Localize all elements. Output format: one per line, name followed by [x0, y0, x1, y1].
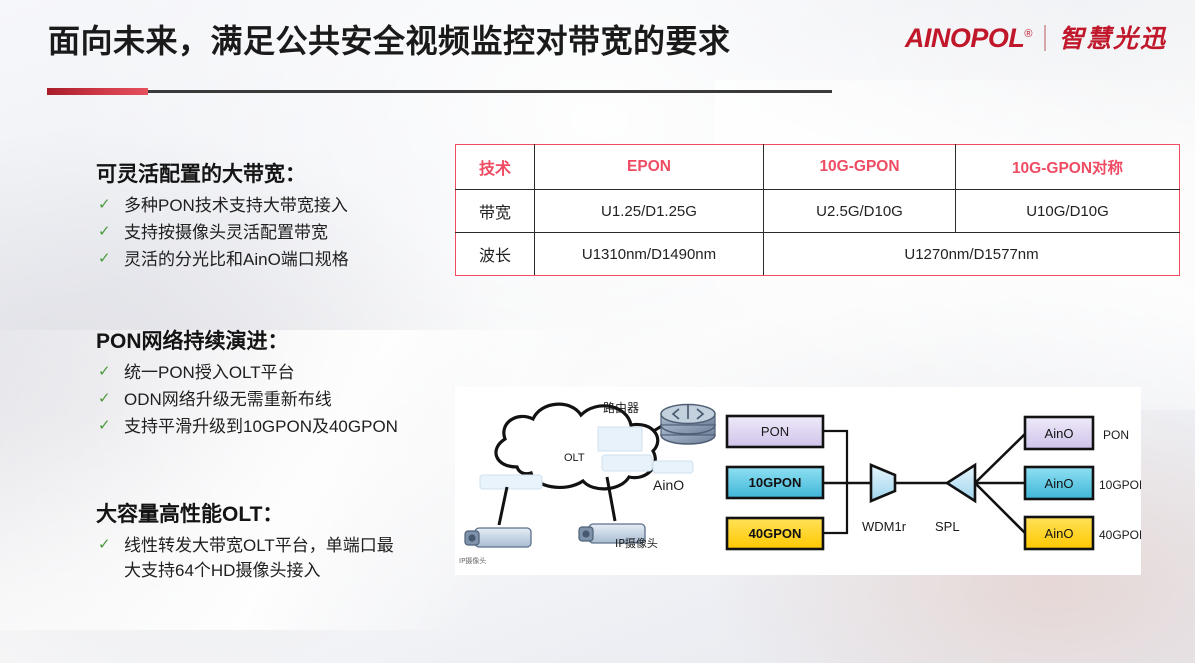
diagram-onu-stack: AinO PON AinO 10GPON AinO 40GPON — [1025, 417, 1141, 549]
bullet-list: ✓ 线性转发大带宽OLT平台，单端口最 大支持64个HD摄像头接入 — [96, 533, 394, 583]
wire-40gpon-to-wdm — [823, 483, 847, 533]
table-cell: U1.25/D1.25G — [535, 190, 764, 233]
table-cell: U2.5G/D10G — [764, 190, 956, 233]
list-item-label: ODN网络升级无需重新布线 — [124, 387, 332, 412]
wire-pon-to-wdm — [823, 431, 847, 483]
page-title: 面向未来，满足公共安全视频监控对带宽的要求 — [48, 16, 731, 62]
onu-tech-10gpon-label: 10GPON — [1099, 478, 1141, 492]
inline-device-left — [480, 475, 542, 489]
onu-tech-40gpon-label: 40GPON — [1099, 528, 1141, 542]
splitter-icon — [947, 465, 975, 501]
link-camera-left — [499, 487, 507, 525]
diagram-footnote: IP摄像头 — [459, 556, 486, 565]
bullet-list: ✓ 多种PON技术支持大带宽接入 ✓ 支持按摄像头灵活配置带宽 ✓ 灵活的分光比… — [96, 193, 349, 272]
tech-box-40gpon-label: 40GPON — [749, 526, 802, 541]
title-underline — [47, 88, 832, 95]
onu-tech-pon-label: PON — [1103, 428, 1129, 442]
list-item-label: 支持按摄像头灵活配置带宽 — [124, 220, 328, 245]
wdm-label: WDM1r — [862, 519, 907, 534]
pon-architecture-diagram: OLT 路由器 — [455, 387, 1141, 575]
aino-left-label: AinO — [653, 477, 684, 493]
drop-fiber-pon — [975, 434, 1025, 483]
table-row-wavelength: 波长 U1310nm/D1490nm U1270nm/D1577nm — [456, 233, 1180, 276]
list-item: ✓ 统一PON授入OLT平台 — [96, 360, 398, 385]
diagram-tech-stack: PON 10GPON 40GPON WDM1r SPL — [727, 416, 1025, 549]
bullet-list: ✓ 统一PON授入OLT平台 ✓ ODN网络升级无需重新布线 ✓ 支持平滑升级到… — [96, 360, 398, 439]
pon-spec-table: 技术 EPON 10G-GPON 10G-GPON对称 带宽 U1.25/D1.… — [455, 144, 1180, 276]
registered-trademark-icon: ® — [1024, 28, 1032, 40]
router-icon — [661, 405, 715, 445]
list-item: ✓ 支持平滑升级到10GPON及40GPON — [96, 414, 398, 439]
check-icon: ✓ — [96, 220, 124, 243]
logo-chinese-name: 智慧光迅 — [1059, 26, 1167, 51]
section-heading: PON网络持续演进： — [96, 325, 398, 355]
table-row-label: 带宽 — [456, 190, 535, 233]
table-header-cell-10g-gpon: 10G-GPON — [764, 145, 956, 190]
onu-box-pon-label: AinO — [1045, 426, 1074, 441]
wdm-multiplexer-icon — [871, 465, 895, 501]
list-item: ✓ 灵活的分光比和AinO端口规格 — [96, 247, 349, 272]
list-item-label: 支持平滑升级到10GPON及40GPON — [124, 414, 398, 439]
onu-box-40gpon-label: AinO — [1045, 526, 1074, 541]
ip-camera-left-icon — [465, 528, 531, 547]
table-header-cell-tech: 技术 — [456, 145, 535, 190]
section-heading: 可灵活配置的大带宽： — [96, 158, 349, 188]
check-icon: ✓ — [96, 360, 124, 383]
check-icon: ✓ — [96, 193, 124, 216]
section-flexible-bandwidth: 可灵活配置的大带宽： ✓ 多种PON技术支持大带宽接入 ✓ 支持按摄像头灵活配置… — [96, 158, 349, 272]
inline-device-mid — [602, 455, 652, 471]
table-row-label: 波长 — [456, 233, 535, 276]
check-icon: ✓ — [96, 533, 124, 556]
tech-box-10gpon-label: 10GPON — [749, 475, 802, 490]
list-item-label: 灵活的分光比和AinO端口规格 — [124, 247, 349, 272]
check-icon: ✓ — [96, 387, 124, 410]
logo-wordmark: AINOPOL® — [905, 25, 1032, 52]
list-item: ✓ 多种PON技术支持大带宽接入 — [96, 193, 349, 218]
list-item-label: 多种PON技术支持大带宽接入 — [124, 193, 348, 218]
ip-camera-label: IP摄像头 — [615, 536, 658, 550]
logo-wordmark-text: AINOPOL — [905, 23, 1025, 53]
list-item-label: 统一PON授入OLT平台 — [124, 360, 295, 385]
drop-fiber-40gpon — [975, 483, 1025, 533]
list-item: ✓ ODN网络升级无需重新布线 — [96, 387, 398, 412]
slide: 面向未来，满足公共安全视频监控对带宽的要求 AINOPOL® 智慧光迅 可灵活配… — [0, 0, 1195, 663]
section-pon-evolution: PON网络持续演进： ✓ 统一PON授入OLT平台 ✓ ODN网络升级无需重新布… — [96, 325, 398, 439]
inline-device-top — [598, 427, 642, 451]
table-header-row: 技术 EPON 10G-GPON 10G-GPON对称 — [456, 145, 1180, 190]
title-underline-accent — [47, 88, 148, 95]
router-label: 路由器 — [603, 400, 639, 415]
cloud-label-olt: OLT — [564, 452, 585, 464]
list-item: ✓ 支持按摄像头灵活配置带宽 — [96, 220, 349, 245]
table-cell-merged: U1270nm/D1577nm — [764, 233, 1180, 276]
check-icon: ✓ — [96, 247, 124, 270]
table-row-bandwidth: 带宽 U1.25/D1.25G U2.5G/D10G U10G/D10G — [456, 190, 1180, 233]
table-cell: U1310nm/D1490nm — [535, 233, 764, 276]
logo-divider — [1044, 25, 1046, 51]
section-high-capacity-olt: 大容量高性能OLT： ✓ 线性转发大带宽OLT平台，单端口最 大支持64个HD摄… — [96, 498, 394, 583]
table-cell: U10G/D10G — [956, 190, 1180, 233]
onu-box-10gpon-label: AinO — [1045, 476, 1074, 491]
table-header-cell-10g-gpon-sym: 10G-GPON对称 — [956, 145, 1180, 190]
title-underline-thin — [47, 90, 832, 93]
inline-device-right — [653, 461, 693, 473]
list-item-label: 线性转发大带宽OLT平台，单端口最 大支持64个HD摄像头接入 — [124, 533, 394, 583]
table-header-cell-epon: EPON — [535, 145, 764, 190]
diagram-cloud-group: OLT 路由器 — [459, 400, 715, 565]
section-heading: 大容量高性能OLT： — [96, 498, 394, 528]
tech-box-pon-label: PON — [761, 424, 789, 439]
check-icon: ✓ — [96, 414, 124, 437]
spl-label: SPL — [935, 519, 960, 534]
brand-logo: AINOPOL® 智慧光迅 — [905, 20, 1167, 56]
list-item: ✓ 线性转发大带宽OLT平台，单端口最 大支持64个HD摄像头接入 — [96, 533, 394, 583]
